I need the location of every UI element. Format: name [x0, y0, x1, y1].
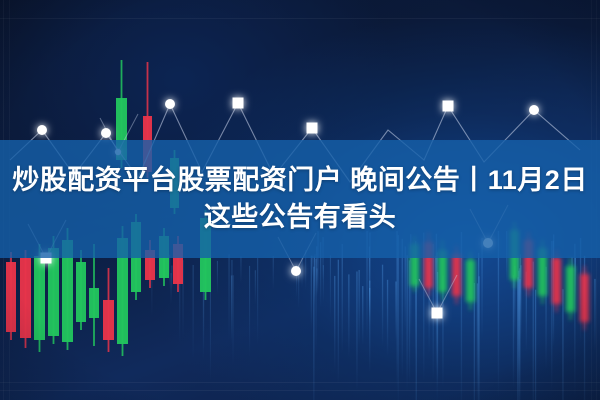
banner-image: 炒股配资平台股票配资门户 晚间公告丨11月2日 这些公告有看头: [0, 0, 600, 400]
headline-banner: 炒股配资平台股票配资门户 晚间公告丨11月2日 这些公告有看头: [0, 140, 600, 258]
headline-line-2: 这些公告有看头: [204, 200, 397, 235]
headline-line-1: 炒股配资平台股票配资门户 晚间公告丨11月2日: [12, 163, 588, 198]
